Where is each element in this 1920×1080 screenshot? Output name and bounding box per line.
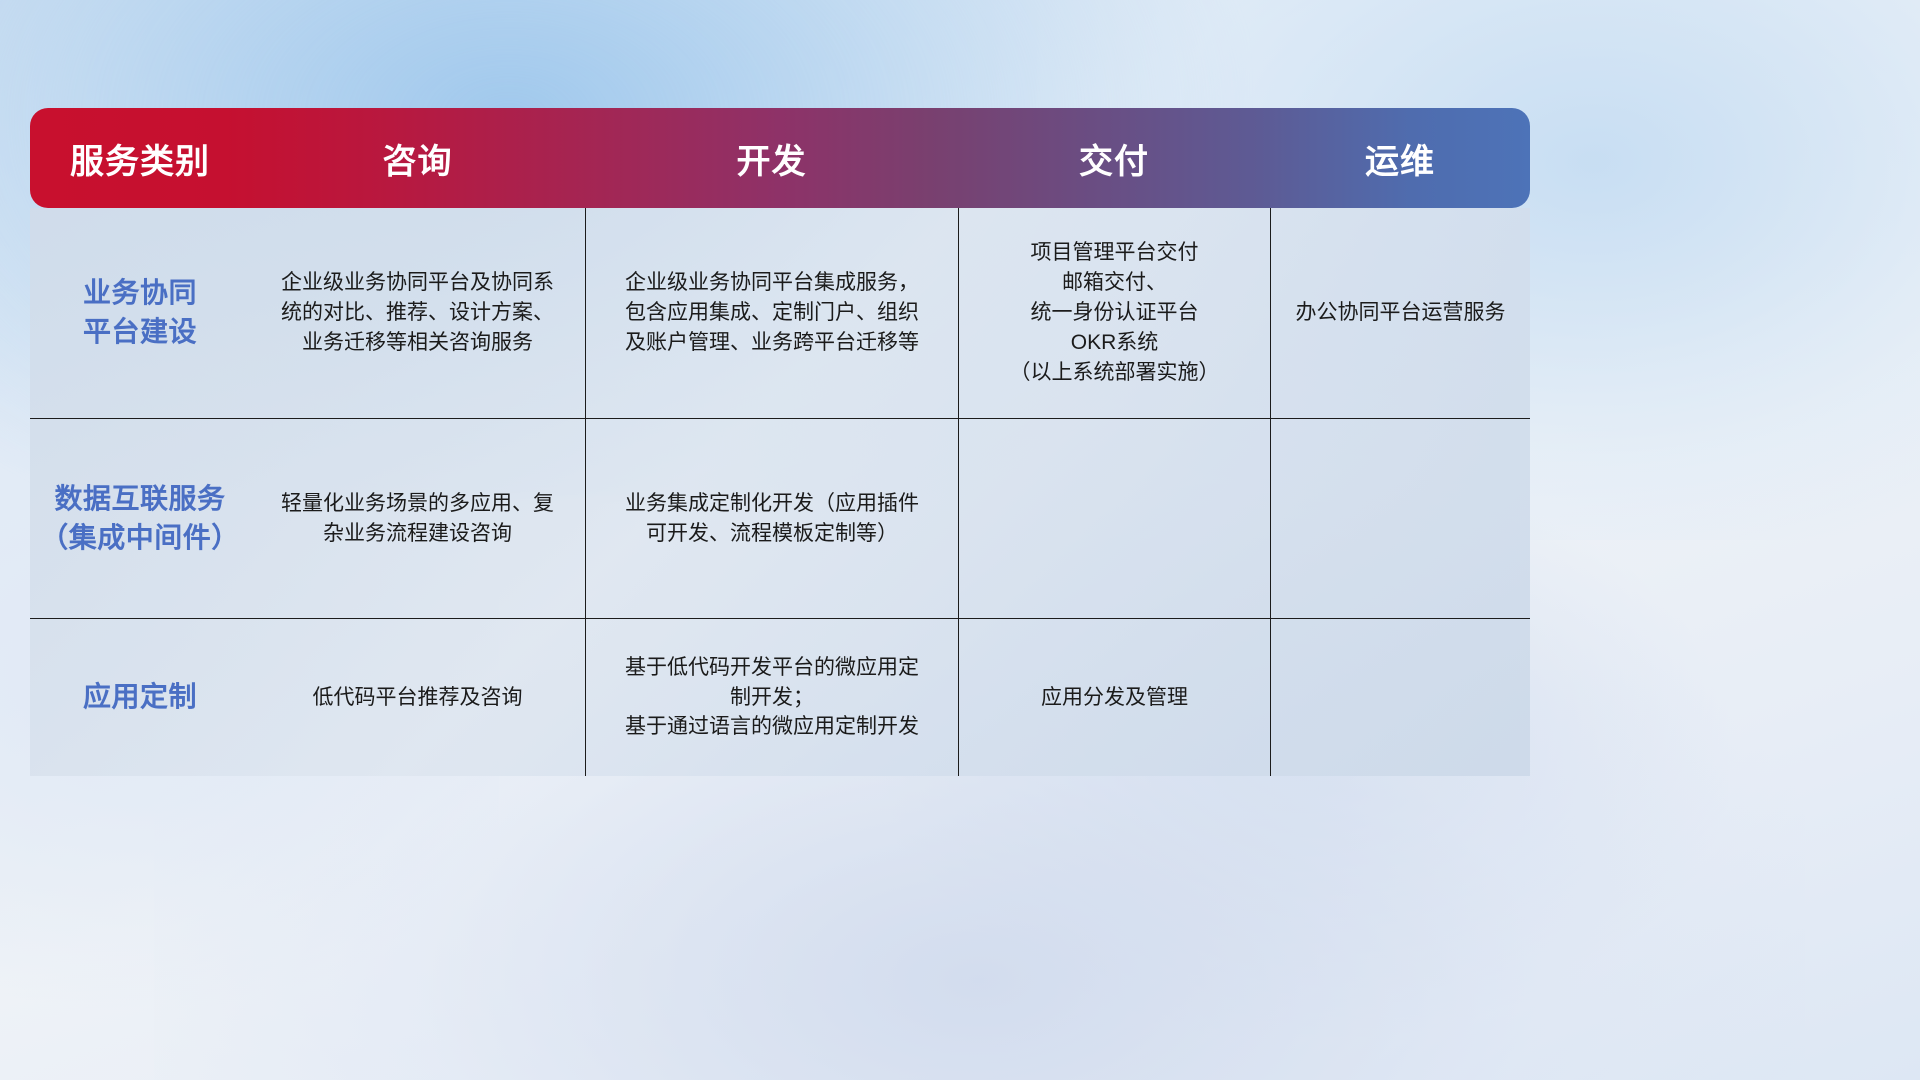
cell-consulting: 低代码平台推荐及咨询 xyxy=(250,619,585,776)
column-header-consulting: 咨询 xyxy=(250,134,585,183)
service-matrix-table: 服务类别 咨询 开发 交付 运维 业务协同 平台建设 企业级业务协同平台及协同系… xyxy=(30,108,1530,776)
category-text: 应用定制 xyxy=(83,678,197,717)
cell-development: 基于低代码开发平台的微应用定 制开发； 基于通过语言的微应用定制开发 xyxy=(585,619,958,776)
cell-operations xyxy=(1270,419,1530,618)
cell-development: 企业级业务协同平台集成服务， 包含应用集成、定制门户、组织 及账户管理、业务跨平… xyxy=(585,208,958,418)
cell-operations xyxy=(1270,619,1530,776)
column-header-development: 开发 xyxy=(585,134,958,183)
category-text: 数据互联服务 （集成中间件） xyxy=(40,480,240,557)
category-text: 业务协同 平台建设 xyxy=(83,274,197,351)
row-category-label: 数据互联服务 （集成中间件） xyxy=(30,419,250,618)
cell-development: 业务集成定制化开发（应用插件 可开发、流程模板定制等） xyxy=(585,419,958,618)
cell-consulting: 轻量化业务场景的多应用、复 杂业务流程建设咨询 xyxy=(250,419,585,618)
column-header-service-category: 服务类别 xyxy=(30,134,250,183)
table-row: 数据互联服务 （集成中间件） 轻量化业务场景的多应用、复 杂业务流程建设咨询 业… xyxy=(30,418,1530,618)
cell-operations: 办公协同平台运营服务 xyxy=(1270,208,1530,418)
column-header-operations: 运维 xyxy=(1270,134,1530,183)
cell-delivery xyxy=(958,419,1270,618)
table-row: 应用定制 低代码平台推荐及咨询 基于低代码开发平台的微应用定 制开发； 基于通过… xyxy=(30,618,1530,776)
table-row: 业务协同 平台建设 企业级业务协同平台及协同系 统的对比、推荐、设计方案、 业务… xyxy=(30,208,1530,418)
cell-delivery: 项目管理平台交付 邮箱交付、 统一身份认证平台 OKR系统 （以上系统部署实施） xyxy=(958,208,1270,418)
row-category-label: 应用定制 xyxy=(30,619,250,776)
table-header-row: 服务类别 咨询 开发 交付 运维 xyxy=(30,108,1530,208)
cell-delivery: 应用分发及管理 xyxy=(958,619,1270,776)
table-body: 业务协同 平台建设 企业级业务协同平台及协同系 统的对比、推荐、设计方案、 业务… xyxy=(30,208,1530,776)
column-header-delivery: 交付 xyxy=(958,134,1270,183)
row-category-label: 业务协同 平台建设 xyxy=(30,208,250,418)
cell-consulting: 企业级业务协同平台及协同系 统的对比、推荐、设计方案、 业务迁移等相关咨询服务 xyxy=(250,208,585,418)
